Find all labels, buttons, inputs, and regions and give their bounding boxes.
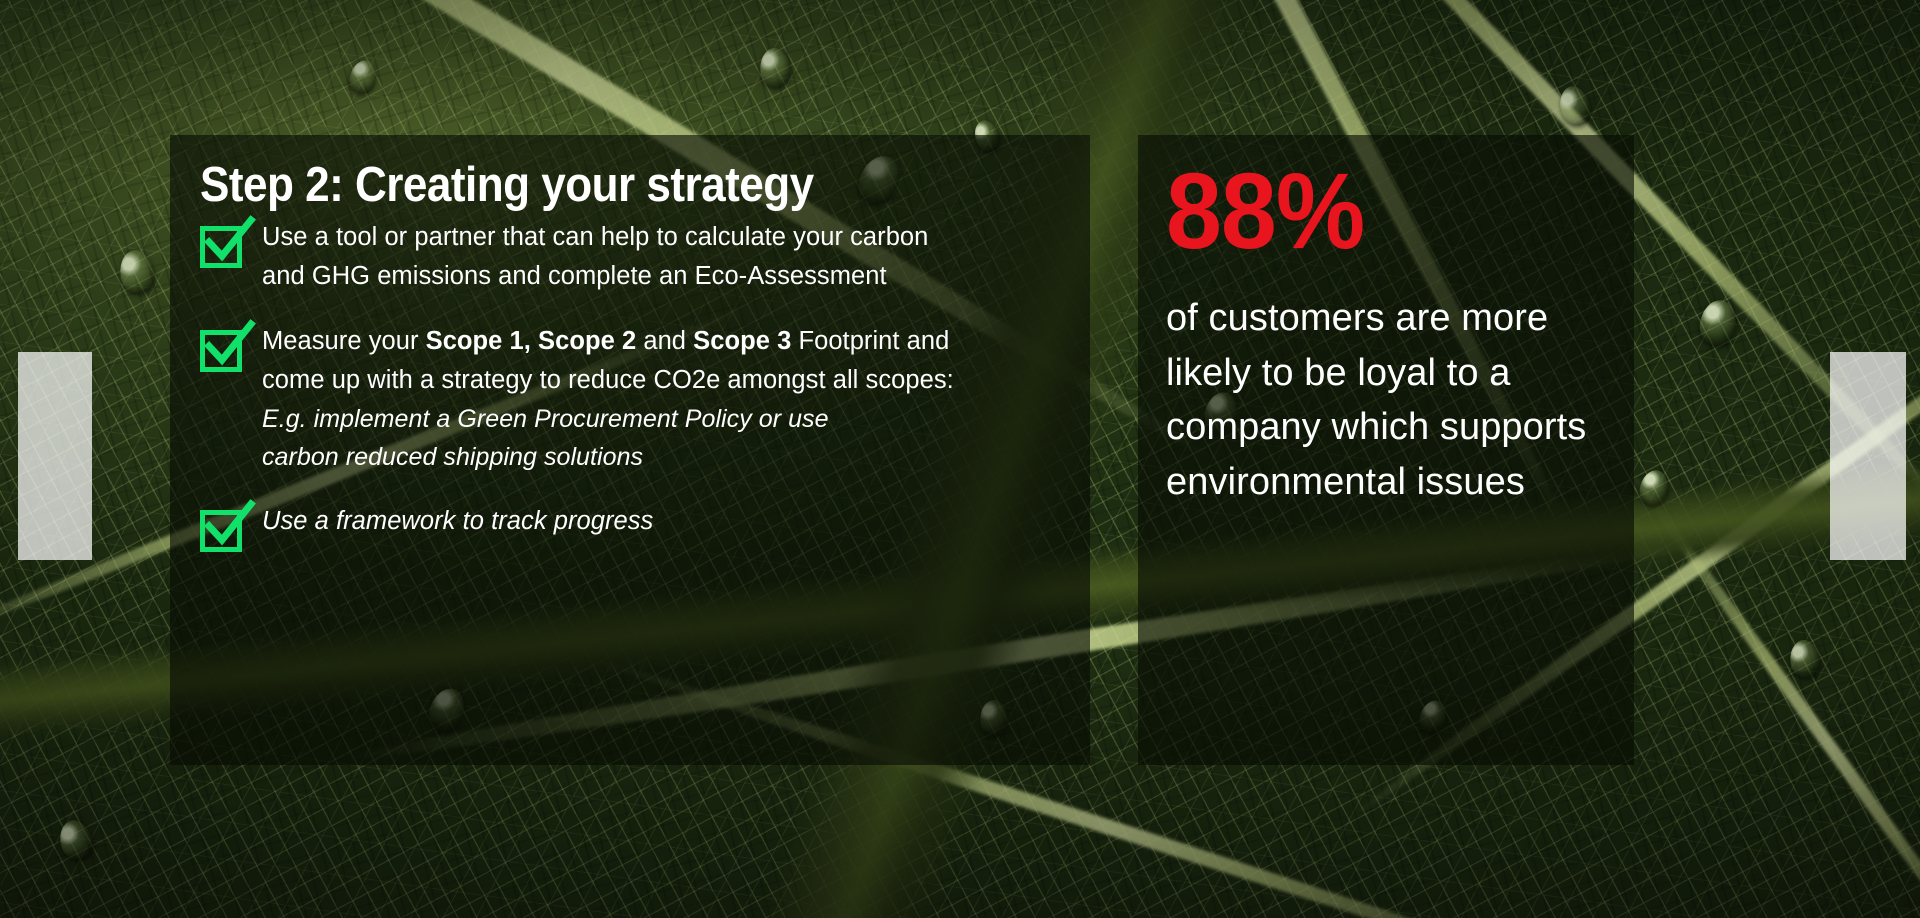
checklist-item-text: Use a framework to track progress — [262, 502, 653, 541]
decorative-strip-right — [1830, 352, 1906, 560]
checkbox-checked-icon[interactable] — [200, 224, 246, 270]
checkbox-checked-icon[interactable] — [200, 508, 246, 554]
checklist-item[interactable]: Measure your Scope 1, Scope 2 and Scope … — [198, 322, 1044, 477]
row-spacer — [198, 296, 1044, 322]
checklist-segment: and — [636, 327, 693, 355]
checkbox-checked-icon[interactable] — [200, 328, 246, 374]
slide-canvas: Step 2: Creating your strategy Use a too… — [0, 0, 1920, 918]
statistic-panel: 88% of customers are more likely to be l… — [1138, 135, 1634, 765]
checklist-segment-bold: Scope 3 — [693, 327, 791, 355]
checklist-item-text: Use a tool or partner that can help to c… — [262, 218, 962, 296]
checklist-subline: E.g. implement a Green Procurement Polic… — [262, 400, 962, 438]
checklist-segment: Use a framework to track progress — [262, 507, 653, 535]
statistic-caption: of customers are more likely to be loyal… — [1166, 291, 1614, 510]
page-title: Step 2: Creating your strategy — [200, 159, 960, 212]
checklist-subline: carbon reduced shipping solutions — [262, 438, 962, 476]
decorative-strip-left — [18, 352, 92, 560]
statistic-value: 88% — [1166, 157, 1583, 265]
checklist-segment: Use a tool or partner that can help to c… — [262, 223, 928, 290]
checklist-item-text: Measure your Scope 1, Scope 2 and Scope … — [262, 322, 962, 477]
checklist-segment-bold: Scope 1, Scope 2 — [426, 327, 637, 355]
strategy-panel: Step 2: Creating your strategy Use a too… — [170, 135, 1090, 765]
row-spacer — [198, 476, 1044, 502]
checklist-segment: Measure your — [262, 327, 426, 355]
checklist-item[interactable]: Use a framework to track progress — [198, 502, 1044, 554]
checklist-item[interactable]: Use a tool or partner that can help to c… — [198, 218, 1044, 296]
